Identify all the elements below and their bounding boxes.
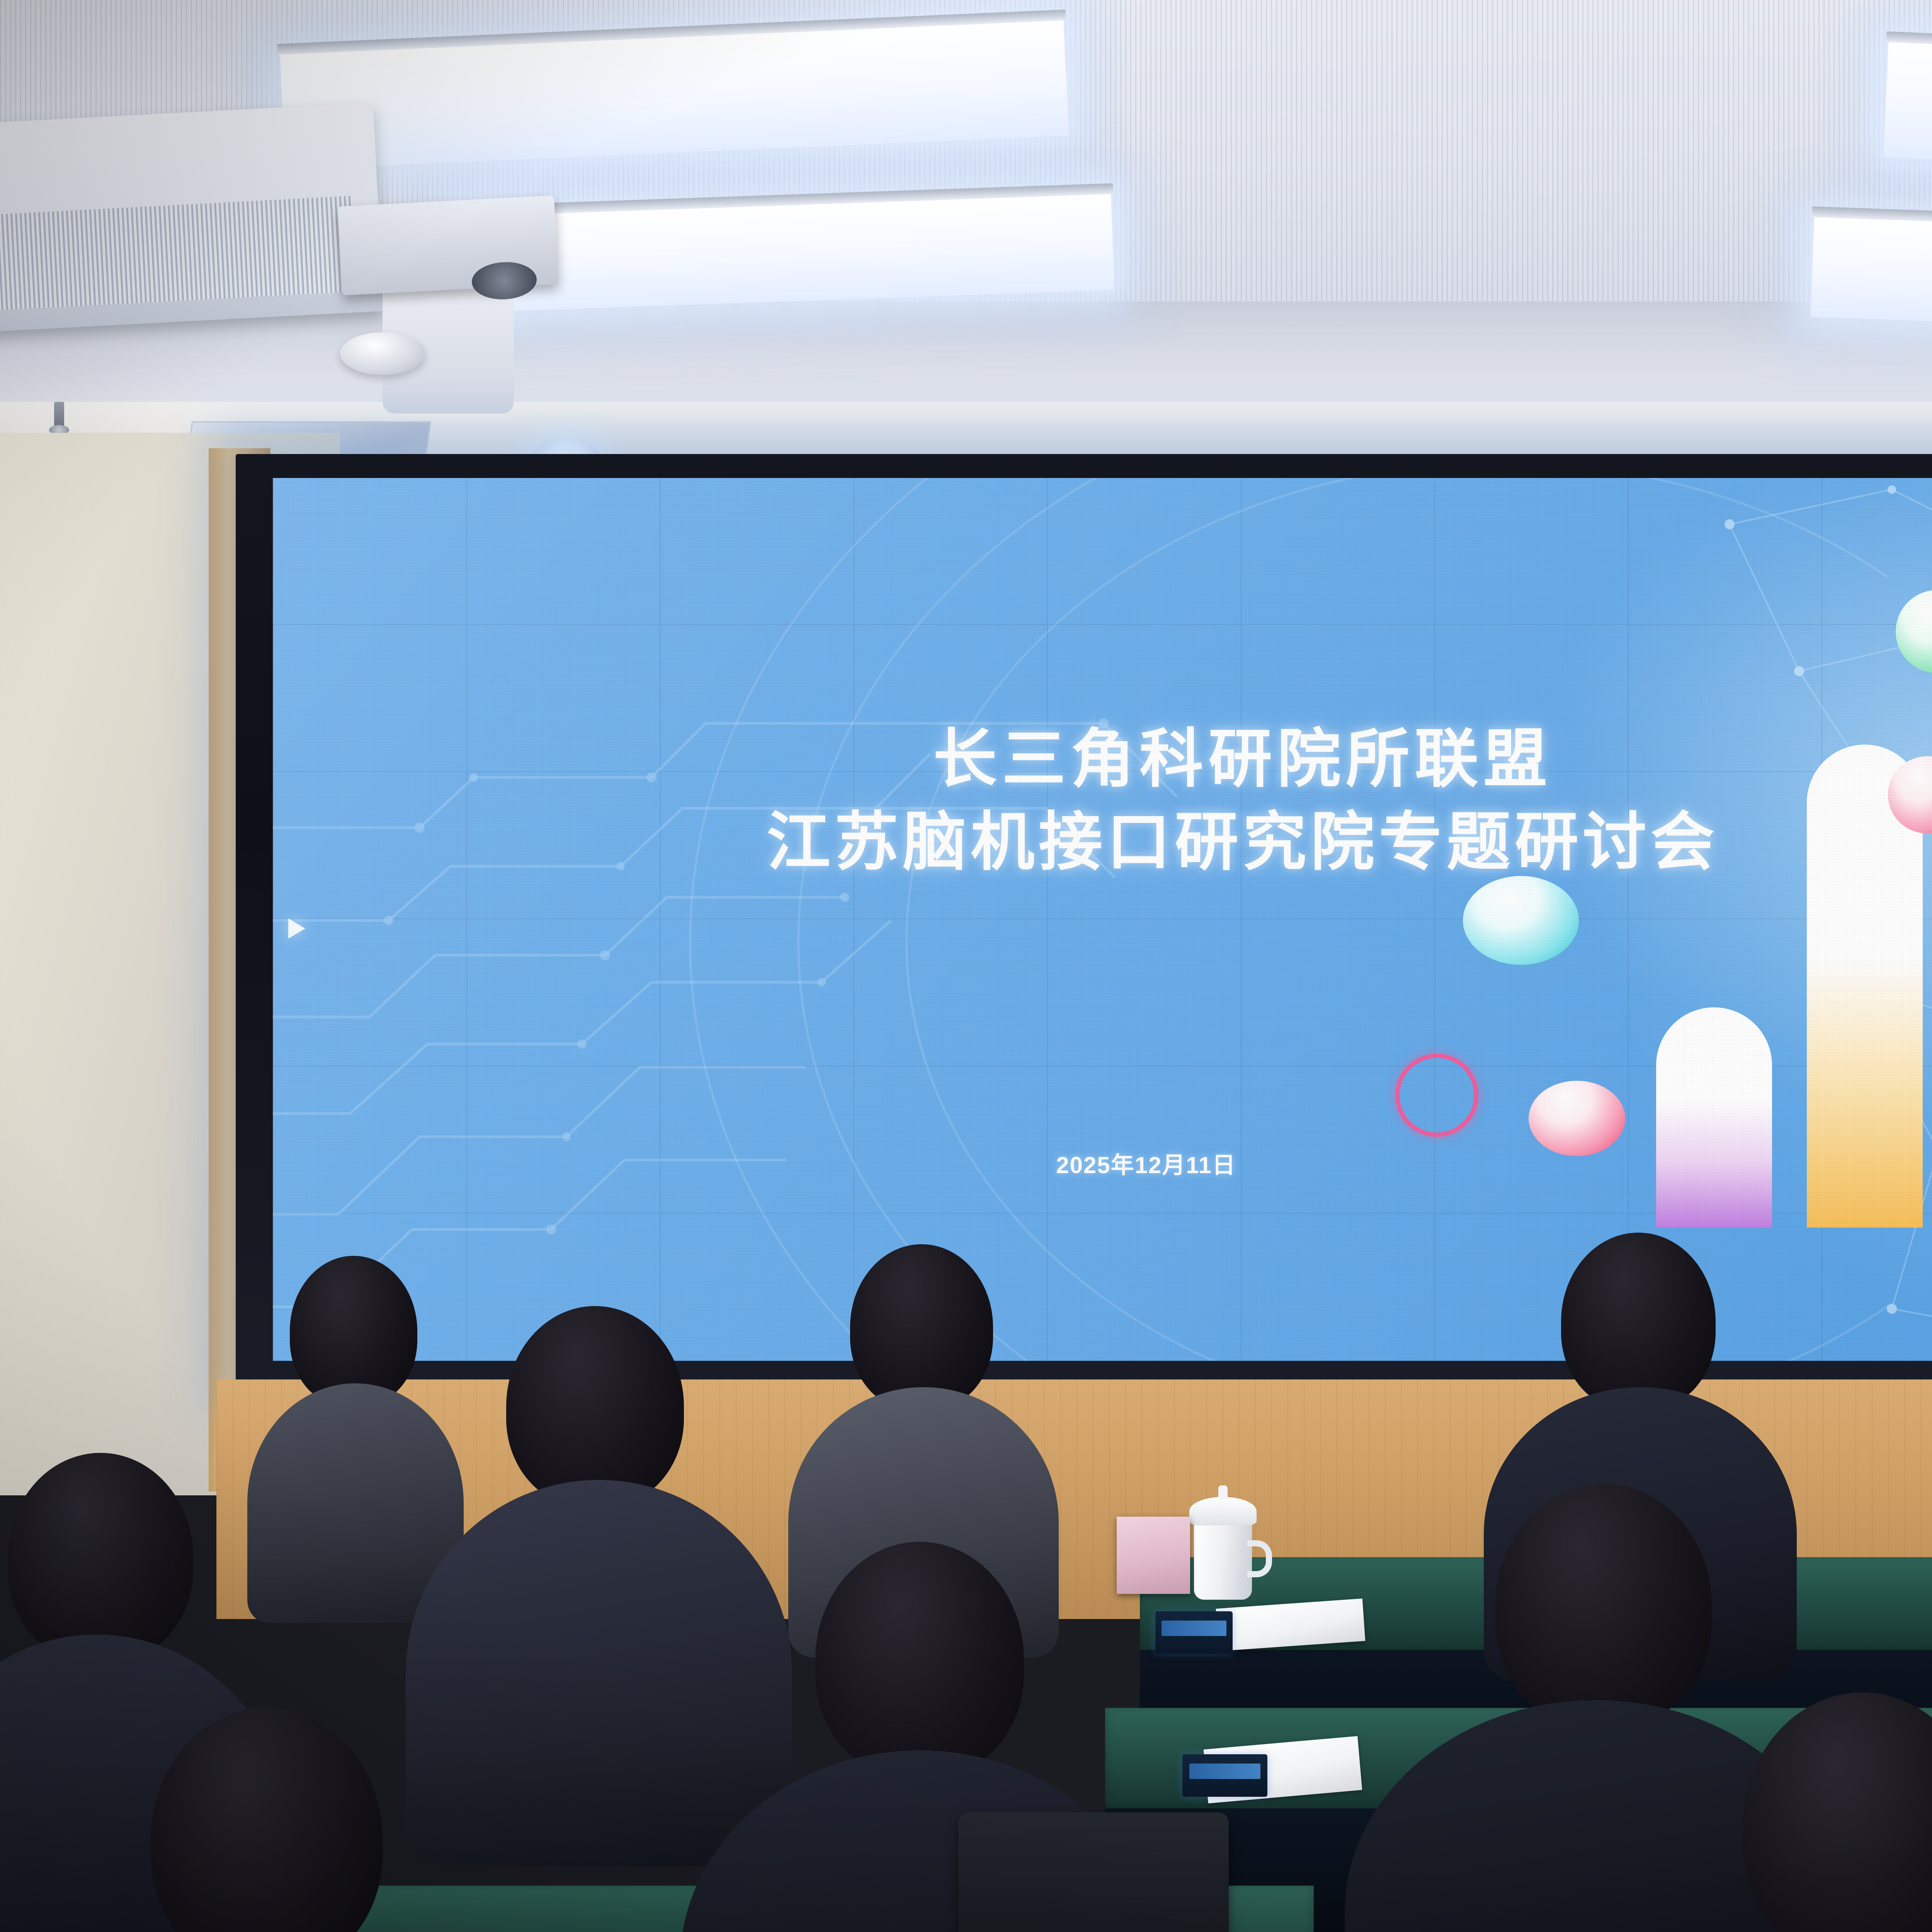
screen-title-line-1: 长三角科研院所联盟 (273, 718, 1932, 801)
audience-head (1495, 1484, 1712, 1727)
led-screen: 长三角科研院所联盟 江苏脑机接口研究院专题研讨会 2025年12月11日 (273, 478, 1932, 1361)
ceiling-ac-unit (0, 103, 384, 334)
teacup-lid (1189, 1497, 1257, 1526)
audience-head (8, 1453, 193, 1662)
screen-title-line-2: 江苏脑机接口研究院专题研讨会 (273, 801, 1932, 884)
decor-blob-teal (1463, 876, 1579, 965)
audience-head (850, 1244, 993, 1410)
conference-room-photo: 长三角科研院所联盟 江苏脑机接口研究院专题研讨会 2025年12月11日 (0, 0, 1932, 1932)
name-placard (1117, 1517, 1190, 1594)
conference-control-unit[interactable] (1155, 1611, 1233, 1654)
audience-torso (406, 1480, 792, 1866)
play-arrow-icon (288, 918, 305, 939)
audience-head (506, 1306, 684, 1507)
ceiling-projector (338, 196, 558, 296)
audience-head (1561, 1233, 1716, 1410)
chair-back (958, 1812, 1229, 1932)
audience-head (815, 1542, 1024, 1777)
screen-date: 2025年12月11日 (273, 1146, 1932, 1180)
sprinkler-head (54, 402, 64, 429)
screen-title-block: 长三角科研院所联盟 江苏脑机接口研究院专题研讨会 (273, 718, 1932, 883)
smoke-detector (340, 332, 425, 375)
decor-ring-pink (1395, 1054, 1478, 1137)
decor-blob-pink (1529, 1081, 1625, 1156)
ac-grille (0, 196, 356, 312)
teacup-handle (1247, 1540, 1272, 1577)
porcelain-teacup[interactable] (1194, 1519, 1252, 1600)
decor-bar-purple-short (1656, 1007, 1772, 1228)
conference-control-unit[interactable] (1182, 1754, 1267, 1797)
led-screen-bezel: 长三角科研院所联盟 江苏脑机接口研究院专题研讨会 2025年12月11日 (236, 454, 1932, 1383)
